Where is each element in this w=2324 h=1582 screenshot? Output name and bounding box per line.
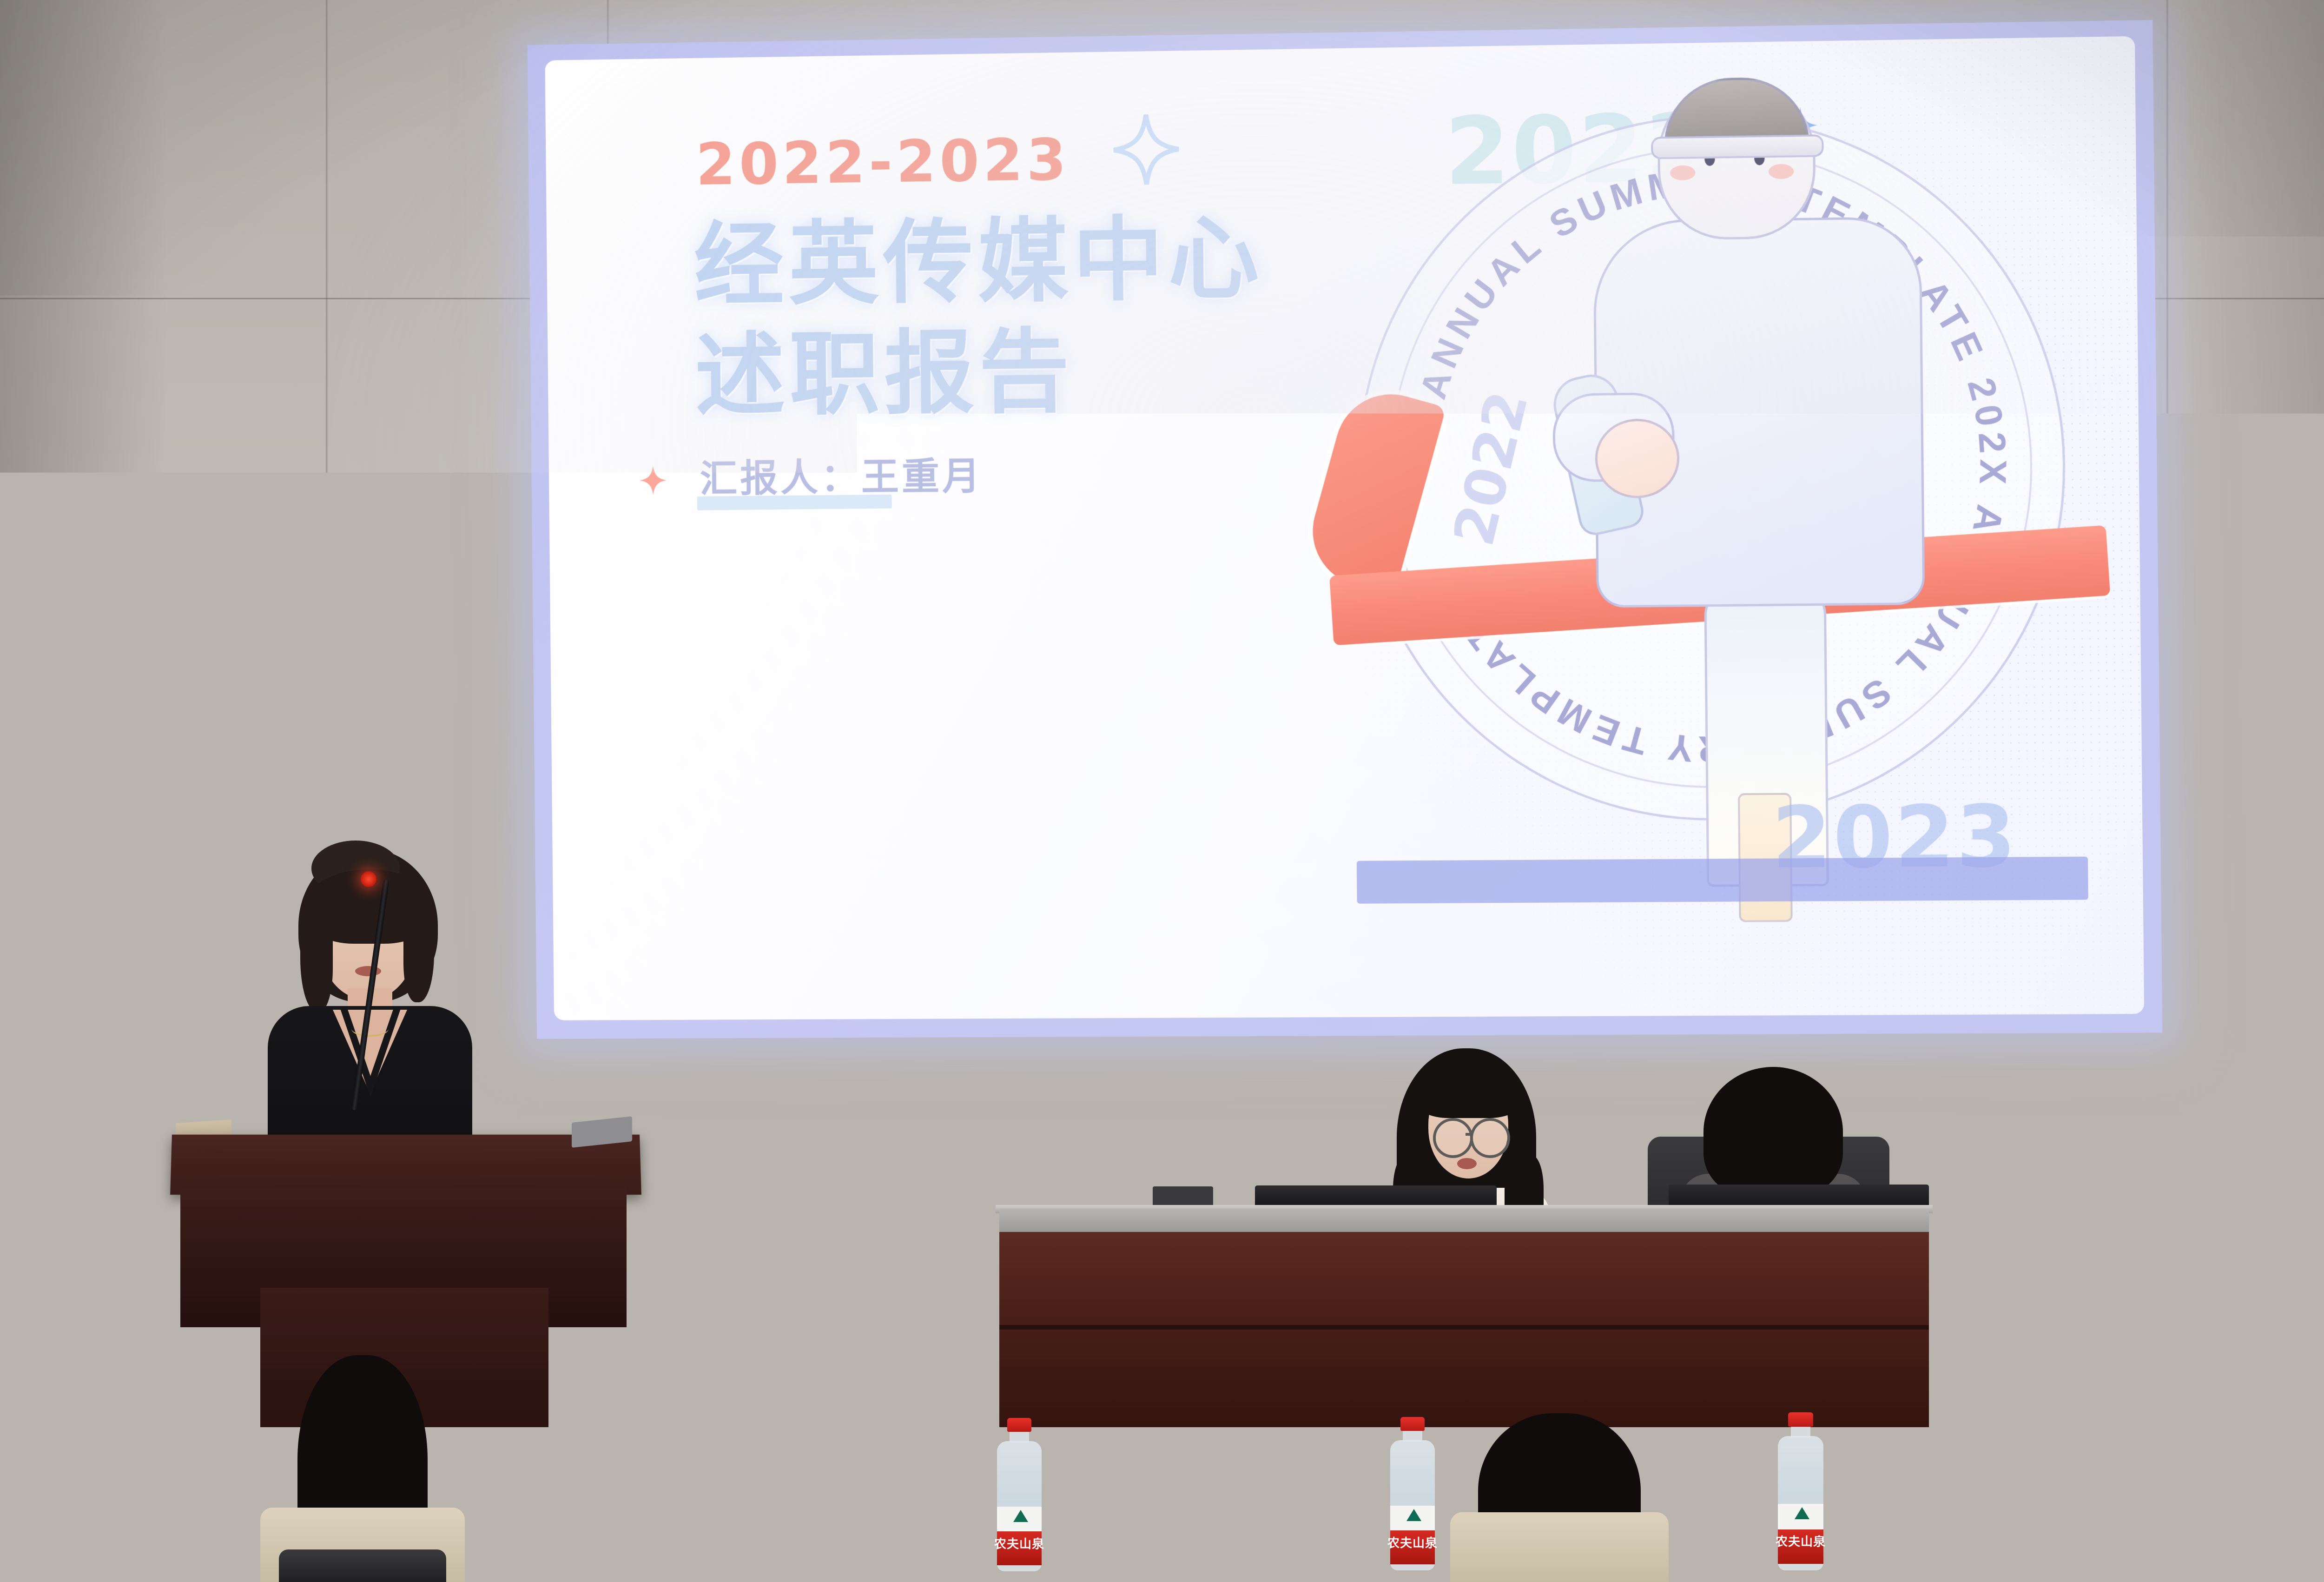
bottle-cap xyxy=(1007,1418,1032,1432)
speaker-hair-side xyxy=(300,905,333,1012)
glasses-icon xyxy=(1470,1118,1510,1158)
audience-chair xyxy=(1450,1512,1669,1582)
bottle-logo-icon xyxy=(1795,1507,1809,1519)
nameplate-band-text: 中国计量大学 经济与管理学院 xyxy=(485,1516,597,1528)
slide-presenter-label: 汇报人：王重月 xyxy=(700,445,983,503)
badge-bottom-band xyxy=(1357,857,2088,904)
bottle-brand-text: 农夫山泉 xyxy=(994,1535,1045,1552)
wall-shadow xyxy=(2177,0,2324,1582)
speaker-hair-side xyxy=(403,905,434,1002)
slide-badge-illustration: 2022 ANNUAL SUMMARY TEMPLATE 202X ANNUAL… xyxy=(1330,59,2107,917)
screenshot-root: 2022-2023 经英传媒中心 述职报告 汇报人：王重月 xyxy=(0,0,2324,1582)
audience-chair-top xyxy=(609,1549,786,1582)
speaker-lips xyxy=(355,966,381,976)
bottle-cap xyxy=(1788,1412,1813,1427)
sparkle-icon xyxy=(638,464,668,496)
glasses-bridge xyxy=(1466,1133,1473,1136)
panel-table-front xyxy=(999,1232,1929,1427)
university-logo-icon xyxy=(1098,1507,1111,1520)
audience-shirt xyxy=(753,1438,892,1522)
slide-title-line1: 经英传媒中心 xyxy=(693,207,1264,316)
water-bottle: 农夫山泉 xyxy=(1775,1412,1827,1570)
podium-top xyxy=(170,1135,641,1195)
bottle-neck xyxy=(1403,1429,1422,1441)
nameplate-name: 圣 xyxy=(465,1539,558,1578)
water-bottle: 农夫山泉 xyxy=(1387,1417,1438,1570)
microphone-led-indicator xyxy=(361,871,376,887)
water-bottle: 农夫山泉 xyxy=(994,1418,1045,1571)
bottle-logo-icon xyxy=(1013,1510,1028,1522)
slide-title-line2: 述职报告 xyxy=(694,314,1265,431)
panelist-hair-front xyxy=(1417,1067,1520,1118)
slide-title: 经英传媒中心 述职报告 xyxy=(693,203,1265,431)
presentation-slide: 2022-2023 经英传媒中心 述职报告 汇报人：王重月 xyxy=(545,36,2144,1020)
slide-presenter-underline xyxy=(697,495,892,510)
projection-screen: 2022-2023 经英传媒中心 述职报告 汇报人：王重月 xyxy=(528,20,2162,1039)
audience-chair xyxy=(1855,1512,2073,1582)
bottle-cap xyxy=(1400,1417,1425,1431)
panelist-hair xyxy=(1703,1067,1843,1197)
university-logo-icon xyxy=(472,1515,485,1528)
bottle-brand-text: 农夫山泉 xyxy=(2188,1533,2239,1550)
bottle-cap xyxy=(2202,1413,2226,1428)
bottle-brand-text: 农夫山泉 xyxy=(1387,1534,1438,1551)
bottle-logo-icon xyxy=(2208,1508,2223,1520)
bottle-neck xyxy=(1791,1425,1811,1437)
speaker-necklace xyxy=(351,1021,389,1037)
bottle-neck xyxy=(1010,1430,1029,1442)
badge-character-hat-brim xyxy=(1651,134,1824,159)
nameplate: 中国计量大学 经济与管理学院 圣 xyxy=(465,1511,558,1581)
wall-seam-vertical xyxy=(2166,0,2169,1582)
wall-shadow xyxy=(0,0,167,1582)
audience-chair-top xyxy=(279,1549,446,1582)
glasses-icon xyxy=(1433,1118,1473,1158)
bottle-brand-text: 农夫山泉 xyxy=(1775,1532,1827,1549)
slide-year-range: 2022-2023 xyxy=(695,126,1070,198)
water-bottle: 农夫山泉 xyxy=(2188,1413,2239,1571)
nameplate-band: 中国计量大学 经济与管理学院 xyxy=(465,1511,558,1535)
panelist-mouth xyxy=(1457,1158,1477,1169)
sparkle-icon xyxy=(1111,112,1182,187)
audience-chair xyxy=(2240,1512,2324,1582)
bottle-logo-icon xyxy=(1406,1509,1421,1521)
bottle-neck xyxy=(2204,1426,2224,1438)
audience-head xyxy=(1181,1506,1376,1582)
